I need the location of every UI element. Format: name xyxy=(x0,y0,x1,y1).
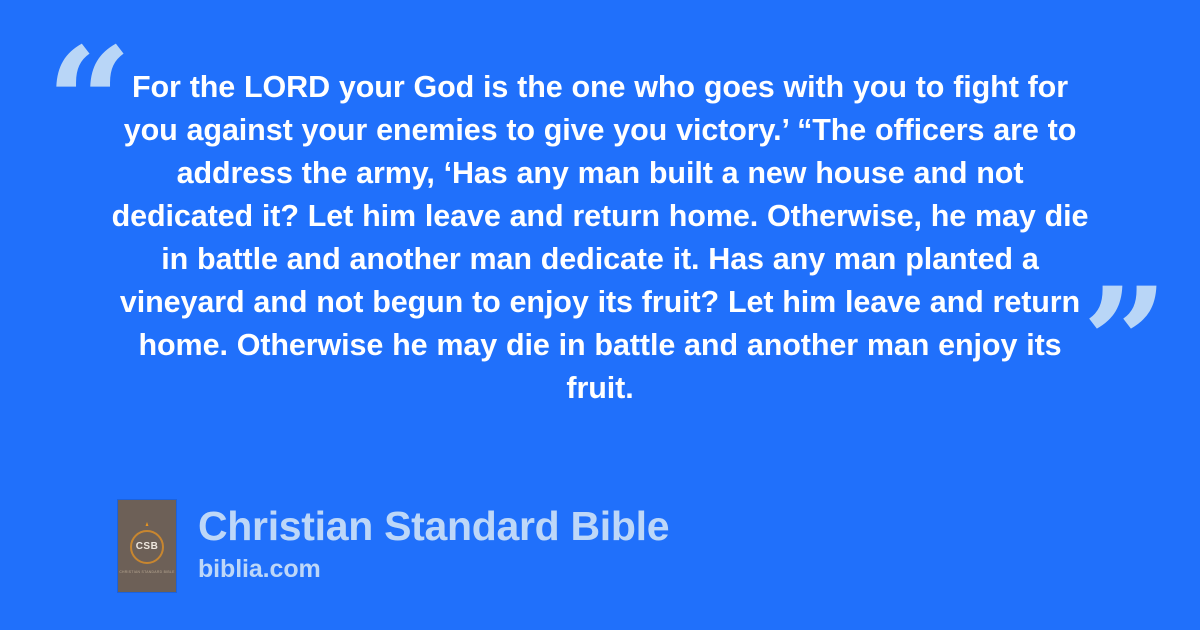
footer-branding: CSB CHRISTIAN STANDARD BIBLE Christian S… xyxy=(118,500,669,592)
bible-version-title: Christian Standard Bible xyxy=(198,502,669,550)
csb-emblem-label: CSB xyxy=(136,542,159,552)
book-cover-subtitle: CHRISTIAN STANDARD BIBLE xyxy=(118,570,176,574)
close-quote-icon: ” xyxy=(1082,268,1168,418)
book-cover-thumbnail[interactable]: CSB CHRISTIAN STANDARD BIBLE xyxy=(118,500,176,592)
quote-text: For the LORD your God is the one who goe… xyxy=(110,66,1090,410)
quote-card: “ For the LORD your God is the one who g… xyxy=(0,0,1200,630)
quote-area: “ For the LORD your God is the one who g… xyxy=(0,0,1200,440)
brand-text-block: Christian Standard Bible biblia.com xyxy=(198,500,669,584)
site-url[interactable]: biblia.com xyxy=(198,554,669,584)
csb-emblem-icon: CSB xyxy=(130,530,164,564)
